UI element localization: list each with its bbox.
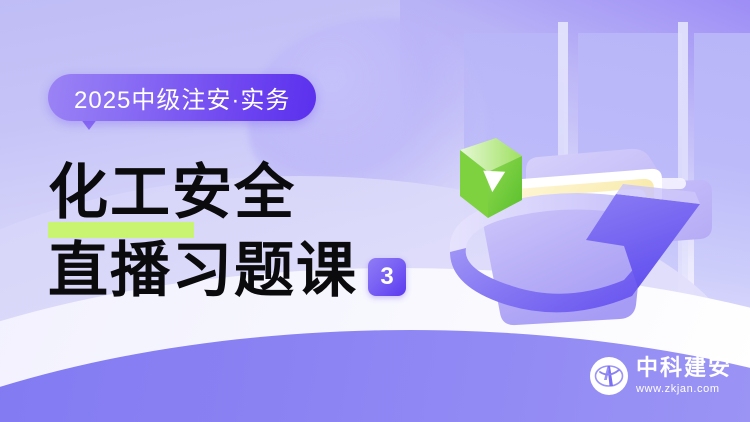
headline-line-2: 直播习题课 [48, 238, 358, 304]
headline-row-1: 化工安全 [48, 148, 406, 226]
brand-logo-text: 中科建安 www.zkjan.com [636, 356, 732, 396]
episode-number-badge: 3 [368, 258, 406, 296]
headline-block: 化工安全 直播习题课 3 [48, 148, 406, 304]
brand-url: www.zkjan.com [636, 382, 732, 396]
brand-logo-mark [590, 357, 628, 395]
headline-row-2: 直播习题课 3 [48, 226, 406, 304]
folder-illustration [430, 110, 730, 340]
brand-logo: 中科建安 www.zkjan.com [590, 356, 732, 396]
headline-line-1: 化工安全 [48, 160, 296, 226]
zkjan-mark-icon [594, 361, 624, 391]
course-tag-label: 2025中级注安·实务 [74, 80, 290, 115]
brand-name: 中科建安 [636, 356, 732, 380]
course-banner: 2025中级注安·实务 化工安全 直播习题课 3 中科建安 www.zkjan.… [0, 0, 750, 422]
course-tag-pill: 2025中级注安·实务 [48, 74, 316, 121]
